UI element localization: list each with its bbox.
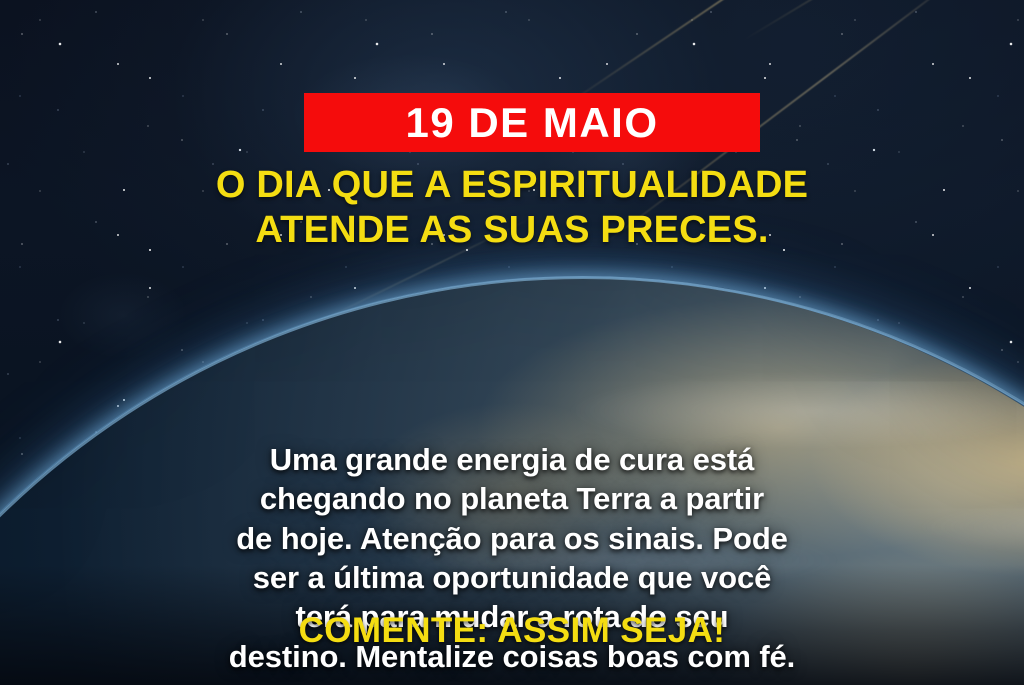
headline-line-1: O DIA QUE A ESPIRITUALIDADE — [0, 163, 1024, 208]
date-banner-label: 19 DE MAIO — [405, 102, 658, 144]
body-line-2: chegando no planeta Terra a partir — [48, 479, 976, 518]
body-line-3: de hoje. Atenção para os sinais. Pode — [48, 519, 976, 558]
headline-line-2: ATENDE AS SUAS PRECES. — [0, 208, 1024, 253]
body-line-4: ser a última oportunidade que você — [48, 558, 976, 597]
poster-canvas: 19 DE MAIO O DIA QUE A ESPIRITUALIDADE A… — [0, 0, 1024, 685]
headline: O DIA QUE A ESPIRITUALIDADE ATENDE AS SU… — [0, 163, 1024, 253]
poster-content: 19 DE MAIO O DIA QUE A ESPIRITUALIDADE A… — [0, 0, 1024, 685]
call-to-action-text: COMENTE: ASSIM SEJA! — [0, 612, 1024, 651]
body-line-1: Uma grande energia de cura está — [48, 440, 976, 479]
date-banner: 19 DE MAIO — [304, 93, 760, 152]
